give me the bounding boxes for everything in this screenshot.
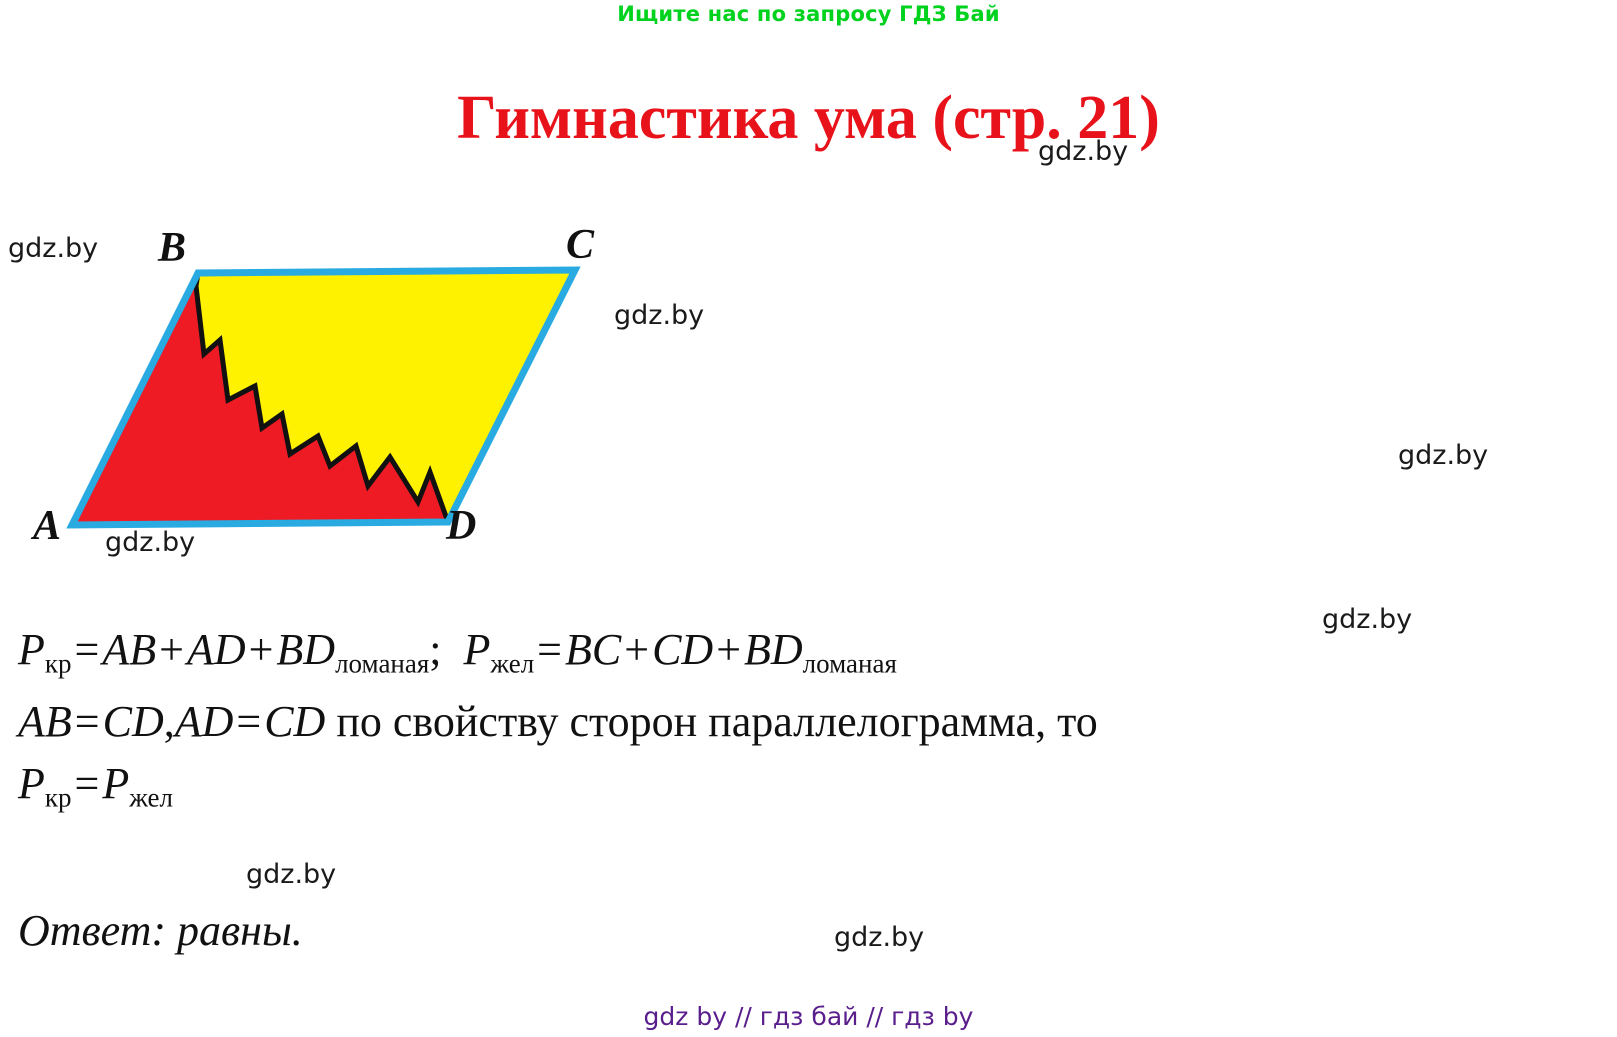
perimeter-red-subscript: кр xyxy=(45,782,72,812)
property-statement-text: по свойству сторон параллелограмма, то xyxy=(325,697,1097,746)
semicolon-separator: ; xyxy=(429,625,441,674)
parallelogram-figure: A B C D xyxy=(0,214,660,564)
perimeter-yellow-subscript: жел xyxy=(129,782,173,812)
watermark-gdz-by: gdz.by xyxy=(834,922,924,953)
segment-bd: BD xyxy=(276,625,335,674)
watermark-gdz-by: gdz.by xyxy=(246,859,336,890)
formula-line-1: Pкр=AB+AD+BDломаная; Pжел=BC+CD+BDломана… xyxy=(18,628,1598,678)
parallelogram-svg xyxy=(0,214,660,564)
plus-sign: + xyxy=(246,625,277,674)
formula-line-2: AB=CD,AD=CD по свойству сторон параллело… xyxy=(18,700,1598,744)
equals-sign: = xyxy=(534,625,565,674)
footer-links-text: gdz by // гдз бай // гдз by xyxy=(0,1002,1617,1031)
perimeter-red-symbol: P xyxy=(18,625,45,674)
segment-ab: AB xyxy=(102,625,156,674)
equals-sign: = xyxy=(233,697,264,746)
formula-line-3: Pкр=Pжел xyxy=(18,762,1598,812)
segment-ad: AD xyxy=(175,697,234,746)
vertex-label-c: C xyxy=(566,221,594,269)
plus-sign: + xyxy=(621,625,652,674)
equals-sign: = xyxy=(72,625,103,674)
segment-ab: AB xyxy=(18,697,72,746)
perimeter-yellow-symbol: P xyxy=(464,625,491,674)
perimeter-yellow-subscript: жел xyxy=(490,649,534,679)
equals-sign: = xyxy=(72,759,103,808)
segment-ad: AD xyxy=(187,625,246,674)
solution-math-block: Pкр=AB+AD+BDломаная; Pжел=BC+CD+BDломана… xyxy=(18,628,1598,811)
promo-banner-text: Ищите нас по запросу ГДЗ Бай xyxy=(0,2,1617,26)
segment-bd-subscript: ломаная xyxy=(803,649,897,679)
watermark-gdz-by: gdz.by xyxy=(1038,136,1128,167)
segment-cd: CD xyxy=(652,625,713,674)
page-title: Гимнастика ума (стр. 21) xyxy=(0,86,1617,151)
vertex-label-a: A xyxy=(33,502,61,550)
perimeter-yellow-symbol: P xyxy=(102,759,129,808)
segment-bd: BD xyxy=(744,625,803,674)
vertex-label-d: D xyxy=(446,502,476,550)
vertex-label-b: B xyxy=(158,224,186,272)
watermark-gdz-by: gdz.by xyxy=(1398,440,1488,471)
equals-sign: = xyxy=(72,697,103,746)
segment-bc: BC xyxy=(565,625,621,674)
segment-cd: CD xyxy=(103,697,164,746)
plus-sign: + xyxy=(156,625,187,674)
segment-cd: CD xyxy=(264,697,325,746)
answer-text: Ответ: равны. xyxy=(18,905,303,956)
plus-sign: + xyxy=(713,625,744,674)
comma-separator: , xyxy=(164,697,175,746)
segment-bd-subscript: ломаная xyxy=(335,649,429,679)
perimeter-red-subscript: кр xyxy=(45,649,72,679)
perimeter-red-symbol: P xyxy=(18,759,45,808)
